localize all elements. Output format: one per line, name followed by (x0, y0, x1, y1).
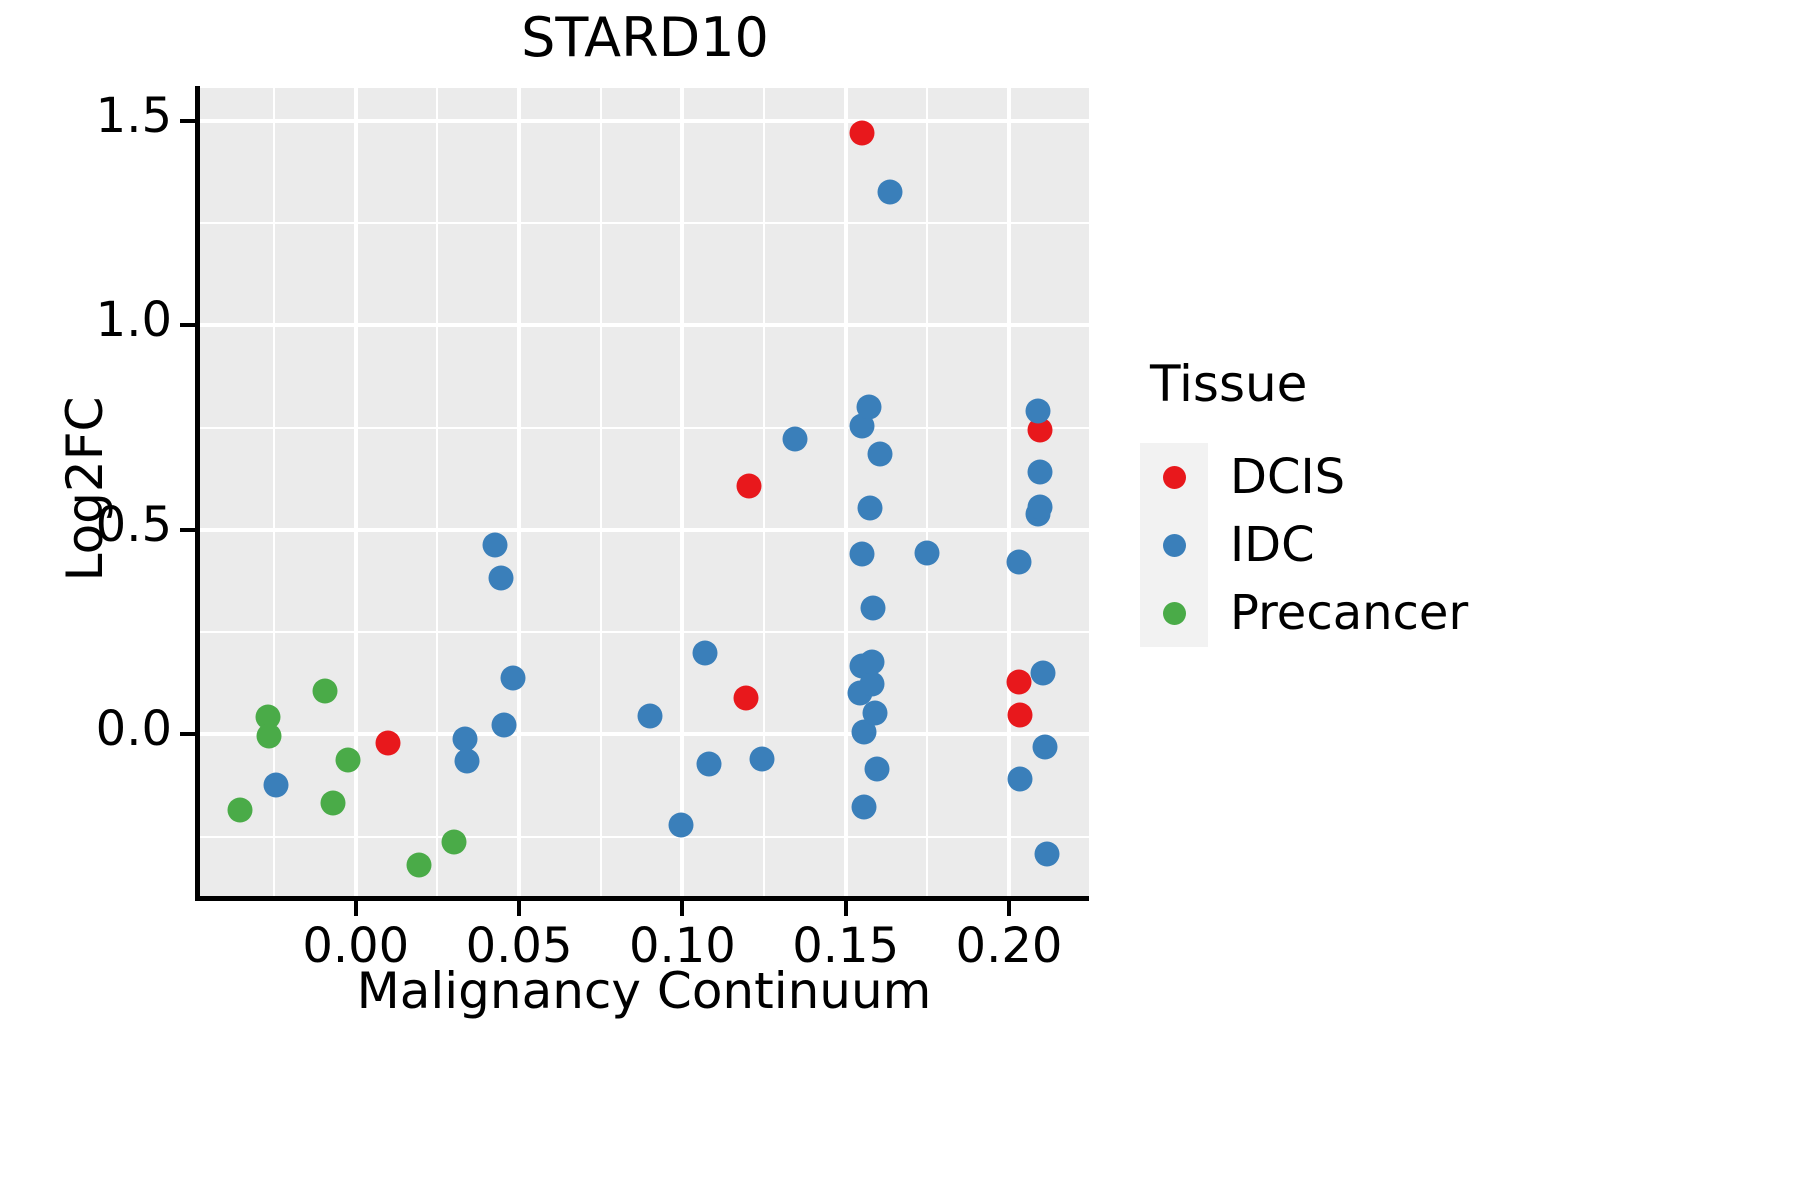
legend: Tissue DCISIDCPrecancer (1140, 355, 1468, 647)
page-title: STARD10 (200, 8, 1090, 67)
gridline-minor-horizontal (199, 222, 1089, 224)
data-point (915, 541, 940, 566)
y-tick-mark (180, 528, 195, 532)
data-point (737, 474, 762, 499)
data-point (850, 121, 875, 146)
x-axis-label: Malignancy Continuum (199, 962, 1089, 1020)
data-point (376, 730, 401, 755)
data-point (489, 565, 514, 590)
legend-item-dcis[interactable]: DCIS (1140, 443, 1468, 511)
data-point (441, 829, 466, 854)
data-point (482, 533, 507, 558)
data-point (1028, 495, 1053, 520)
gridline-major-vertical (354, 88, 358, 898)
y-tick-mark (180, 119, 195, 123)
y-tick-label: 1.5 (0, 88, 172, 144)
legend-dot-icon (1163, 466, 1186, 489)
gridline-major-vertical (517, 88, 521, 898)
data-point (312, 679, 337, 704)
gridline-minor-vertical (436, 88, 438, 898)
legend-dot-icon (1163, 534, 1186, 557)
data-point (734, 685, 759, 710)
data-point (877, 180, 902, 205)
data-point (858, 496, 883, 521)
y-axis-line (195, 86, 200, 900)
data-point (863, 700, 888, 725)
data-point (867, 442, 892, 467)
data-point (1006, 549, 1031, 574)
legend-item-precancer[interactable]: Precancer (1140, 579, 1468, 647)
data-point (1006, 670, 1031, 695)
gridline-major-horizontal (199, 732, 1089, 736)
gridline-major-horizontal (199, 528, 1089, 532)
data-point (864, 757, 889, 782)
legend-key-swatch (1140, 511, 1208, 579)
data-point (850, 542, 875, 567)
data-point (492, 713, 517, 738)
data-point (320, 791, 345, 816)
data-point (263, 772, 288, 797)
data-point (851, 795, 876, 820)
data-point (637, 703, 662, 728)
data-point (1028, 459, 1053, 484)
gridline-major-horizontal (199, 323, 1089, 327)
data-point (861, 595, 886, 620)
data-point (750, 746, 775, 771)
plot-panel (199, 88, 1089, 898)
data-point (668, 813, 693, 838)
x-tick-mark (354, 901, 358, 916)
data-point (227, 798, 252, 823)
x-axis-line (195, 896, 1089, 901)
gridline-major-horizontal (199, 119, 1089, 123)
data-point (1032, 735, 1057, 760)
legend-entries: DCISIDCPrecancer (1140, 443, 1468, 647)
legend-title: Tissue (1150, 355, 1468, 413)
gridline-minor-horizontal (199, 836, 1089, 838)
data-point (856, 395, 881, 420)
data-point (1034, 842, 1059, 867)
gridline-minor-vertical (926, 88, 928, 898)
y-tick-mark (180, 732, 195, 736)
x-tick-mark (517, 901, 521, 916)
x-tick-mark (1007, 901, 1011, 916)
data-point (859, 672, 884, 697)
gridline-minor-horizontal (199, 631, 1089, 633)
gridline-minor-horizontal (199, 427, 1089, 429)
chart-root: STARD10 0.000.050.100.150.20 0.00.51.01.… (0, 0, 1800, 1200)
data-point (1031, 661, 1056, 686)
legend-key-swatch (1140, 579, 1208, 647)
y-tick-mark (180, 323, 195, 327)
gridline-major-vertical (680, 88, 684, 898)
data-point (335, 748, 360, 773)
y-axis-label: Log2FC (56, 139, 114, 839)
legend-item-label: IDC (1230, 517, 1315, 573)
data-point (1026, 399, 1051, 424)
x-tick-mark (680, 901, 684, 916)
data-point (1008, 702, 1033, 727)
legend-key-swatch (1140, 443, 1208, 511)
x-tick-mark (844, 901, 848, 916)
data-point (407, 853, 432, 878)
legend-dot-icon (1163, 602, 1186, 625)
legend-item-label: DCIS (1230, 449, 1345, 505)
data-point (696, 751, 721, 776)
data-point (859, 649, 884, 674)
data-point (1008, 766, 1033, 791)
data-point (693, 641, 718, 666)
data-point (454, 748, 479, 773)
data-point (783, 427, 808, 452)
gridline-minor-vertical (763, 88, 765, 898)
data-point (257, 724, 282, 749)
data-point (500, 666, 525, 691)
legend-item-idc[interactable]: IDC (1140, 511, 1468, 579)
legend-item-label: Precancer (1230, 585, 1468, 641)
gridline-minor-vertical (600, 88, 602, 898)
gridline-major-vertical (844, 88, 848, 898)
